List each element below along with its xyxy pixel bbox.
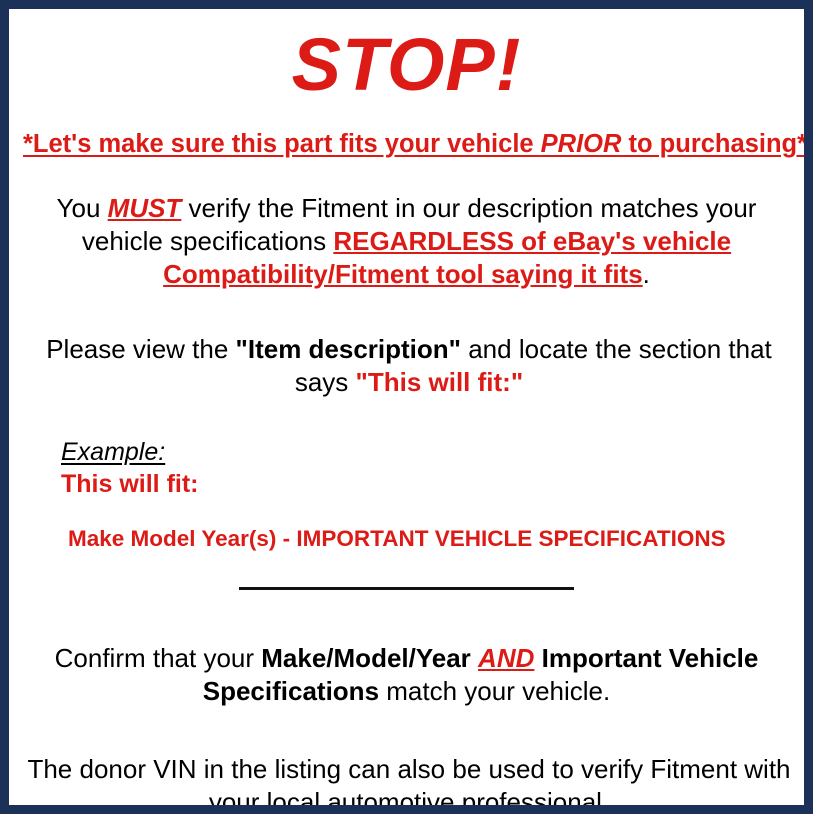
example-spec-line: Make Model Year(s) - IMPORTANT VEHICLE S… <box>61 499 790 553</box>
make-model-year-emphasis: Make/Model/Year <box>261 643 471 673</box>
must-emphasis-word: MUST <box>108 193 182 223</box>
subtitle-emphasis-prior: PRIOR <box>541 130 622 158</box>
example-fit-heading: This will fit: <box>61 467 790 499</box>
must-text-3: . <box>643 259 650 289</box>
example-block: Example: This will fit: Make Model Year(… <box>23 399 790 553</box>
view-text-1: Please view the <box>46 334 235 364</box>
confirm-text-4: match your vehicle. <box>379 676 610 706</box>
divider-row <box>23 553 790 598</box>
item-description-paragraph: Please view the "Item description" and l… <box>23 291 795 399</box>
this-will-fit-quote: "This will fit:" <box>356 367 524 397</box>
must-verify-paragraph: You MUST verify the Fitment in our descr… <box>27 159 787 291</box>
subtitle-tail-text: to purchasing* <box>621 130 807 158</box>
confirm-text-1: Confirm that your <box>55 643 262 673</box>
example-label-row: Example: <box>61 437 790 467</box>
and-emphasis-word: AND <box>478 643 534 673</box>
fitment-notice-card: STOP! *Let's make sure this part fits yo… <box>0 0 813 814</box>
confirm-text-3 <box>534 643 541 673</box>
donor-vin-paragraph: The donor VIN in the listing can also be… <box>23 708 795 814</box>
item-description-label: "Item description" <box>236 334 461 364</box>
confirm-text-2 <box>471 643 478 673</box>
confirm-paragraph: Confirm that your Make/Model/Year AND Im… <box>29 598 785 708</box>
example-label: Example: <box>61 437 165 467</box>
subtitle-lead-text: *Let's make sure this part fits your veh… <box>23 130 541 158</box>
notice-content: STOP! *Let's make sure this part fits yo… <box>9 9 804 805</box>
section-divider <box>239 587 574 590</box>
must-text-1: You <box>57 193 108 223</box>
page-title: STOP! <box>23 9 790 107</box>
subtitle-banner: *Let's make sure this part fits your veh… <box>23 107 790 159</box>
